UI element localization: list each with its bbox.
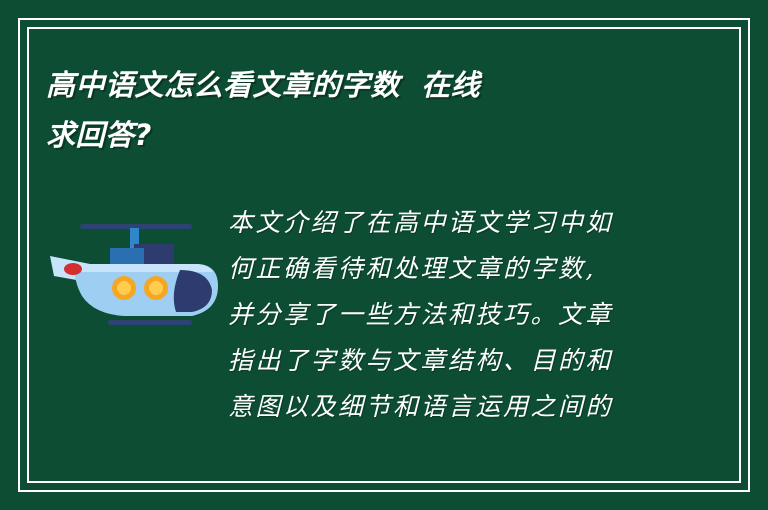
fuselage-highlight-shape <box>74 264 213 272</box>
body-line-2: 何正确看待和处理文章的字数, <box>228 246 668 292</box>
landing-skid-shape <box>108 320 192 325</box>
body-line-3: 并分享了一些方法和技巧。文章 <box>228 292 668 338</box>
page-title: 高中语文怎么看文章的字数 在线 求回答? <box>46 60 696 160</box>
title-line-1: 高中语文怎么看文章的字数 在线 <box>46 60 696 110</box>
poster-canvas: 高中语文怎么看文章的字数 在线 求回答? <box>0 0 768 510</box>
title-line-2: 求回答? <box>46 110 696 160</box>
cabin-window-2-core-shape <box>149 281 163 295</box>
cabin-window-1-core-shape <box>117 281 131 295</box>
content-row: 本文介绍了在高中语文学习中如 何正确看待和处理文章的字数, 并分享了一些方法和技… <box>46 200 722 470</box>
body-paragraph: 本文介绍了在高中语文学习中如 何正确看待和处理文章的字数, 并分享了一些方法和技… <box>228 200 668 430</box>
helicopter-icon <box>46 210 226 350</box>
engine-housing-shape <box>110 248 144 266</box>
body-line-1: 本文介绍了在高中语文学习中如 <box>228 200 668 246</box>
body-line-5: 意图以及细节和语言运用之间的 <box>228 384 668 430</box>
tail-light-shape <box>64 263 82 275</box>
body-line-4: 指出了字数与文章结构、目的和 <box>228 338 668 384</box>
